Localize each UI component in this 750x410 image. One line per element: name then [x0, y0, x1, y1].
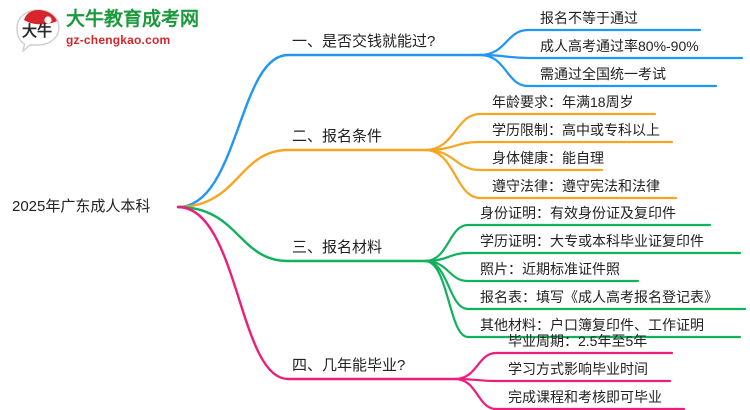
- leaf-label-2-1: 年龄要求：年满18周岁: [492, 91, 634, 113]
- leaf-node-2-1[interactable]: 年龄要求：年满18周岁: [492, 91, 634, 113]
- leaf-connector-1-2: [480, 55, 528, 58]
- leaf-node-4-1[interactable]: 毕业周期：2.5年至5年: [508, 330, 647, 352]
- branch-label-1: 一、是否交钱就能过?: [292, 30, 435, 54]
- logo-speech-bubble-icon: 大牛: [14, 8, 62, 52]
- branch-label-3: 三、报名材料: [292, 236, 382, 260]
- branch-node-4[interactable]: 四、几年能毕业?: [292, 354, 405, 378]
- logo-name-en: gz-chengkao.com: [66, 32, 216, 48]
- leaf-label-3-3: 照片：近期标准证件照: [480, 258, 620, 280]
- leaf-node-4-2[interactable]: 学习方式影响毕业时间: [508, 358, 648, 380]
- leaf-label-3-2: 学历证明：大专或本科毕业证复印件: [480, 230, 704, 252]
- leaf-node-3-3[interactable]: 照片：近期标准证件照: [480, 258, 620, 280]
- leaf-node-3-4[interactable]: 报名表：填写《成人高考报名登记表》: [480, 286, 718, 308]
- leaf-connector-4-3: [455, 379, 496, 409]
- leaf-connector-3-5: [425, 261, 468, 337]
- leaf-label-4-3: 完成课程和考核即可毕业: [508, 386, 662, 408]
- branch-connector-3: [178, 207, 288, 261]
- leaf-connector-4-2: [455, 379, 496, 381]
- leaf-node-2-3[interactable]: 身体健康：能自理: [492, 147, 604, 169]
- leaf-node-3-1[interactable]: 身份证明：有效身份证及复印件: [480, 202, 676, 224]
- branch-node-3[interactable]: 三、报名材料: [292, 236, 382, 260]
- leaf-label-1-2: 成人高考通过率80%-90%: [540, 35, 699, 57]
- leaf-connector-2-4: [425, 150, 480, 198]
- leaf-label-3-1: 身份证明：有效身份证及复印件: [480, 202, 676, 224]
- leaf-label-2-4: 遵守法律：遵守宪法和法律: [492, 175, 660, 197]
- site-logo: 大牛 大牛教育成考网 gz-chengkao.com: [14, 6, 214, 54]
- leaf-connector-1-3: [480, 55, 528, 86]
- branch-connector-4: [178, 207, 288, 379]
- leaf-label-2-3: 身体健康：能自理: [492, 147, 604, 169]
- root-node-label: 2025年广东成人本科: [12, 194, 150, 220]
- leaf-node-2-4[interactable]: 遵守法律：遵守宪法和法律: [492, 175, 660, 197]
- branch-node-1[interactable]: 一、是否交钱就能过?: [292, 30, 435, 54]
- svg-text:大牛: 大牛: [22, 22, 52, 40]
- leaf-label-1-1: 报名不等于通过: [540, 7, 638, 29]
- leaf-connector-3-4: [425, 261, 468, 309]
- branch-label-2: 二、报名条件: [292, 125, 382, 149]
- leaf-connector-3-2: [425, 253, 468, 261]
- branch-connector-1: [178, 55, 288, 207]
- leaf-node-1-3[interactable]: 需通过全国统一考试: [540, 63, 666, 85]
- leaf-label-2-2: 学历限制：高中或专科以上: [492, 119, 660, 141]
- leaf-connector-2-1: [425, 114, 480, 150]
- leaf-connector-1-1: [480, 30, 528, 55]
- leaf-label-4-1: 毕业周期：2.5年至5年: [508, 330, 647, 352]
- leaf-connector-3-3: [425, 261, 468, 281]
- branch-connector-2: [178, 150, 288, 207]
- leaf-connector-2-2: [425, 142, 480, 150]
- leaf-node-1-2[interactable]: 成人高考通过率80%-90%: [540, 35, 699, 57]
- logo-wordmark: 大牛教育成考网 gz-chengkao.com: [66, 8, 216, 52]
- leaf-node-1-1[interactable]: 报名不等于通过: [540, 7, 638, 29]
- leaf-node-2-2[interactable]: 学历限制：高中或专科以上: [492, 119, 660, 141]
- leaf-node-4-3[interactable]: 完成课程和考核即可毕业: [508, 386, 662, 408]
- leaf-label-3-4: 报名表：填写《成人高考报名登记表》: [480, 286, 718, 308]
- mindmap-canvas: 大牛 大牛教育成考网 gz-chengkao.com 2025年广东成人本科 一…: [0, 0, 750, 410]
- leaf-connector-3-1: [425, 225, 468, 261]
- logo-name-cn: 大牛教育成考网: [66, 8, 216, 32]
- leaf-connector-2-3: [425, 150, 480, 170]
- leaf-label-1-3: 需通过全国统一考试: [540, 63, 666, 85]
- leaf-connector-4-1: [455, 353, 496, 379]
- branch-node-2[interactable]: 二、报名条件: [292, 125, 382, 149]
- leaf-node-3-2[interactable]: 学历证明：大专或本科毕业证复印件: [480, 230, 704, 252]
- branch-label-4: 四、几年能毕业?: [292, 354, 405, 378]
- root-node[interactable]: 2025年广东成人本科: [12, 194, 172, 220]
- leaf-label-4-2: 学习方式影响毕业时间: [508, 358, 648, 380]
